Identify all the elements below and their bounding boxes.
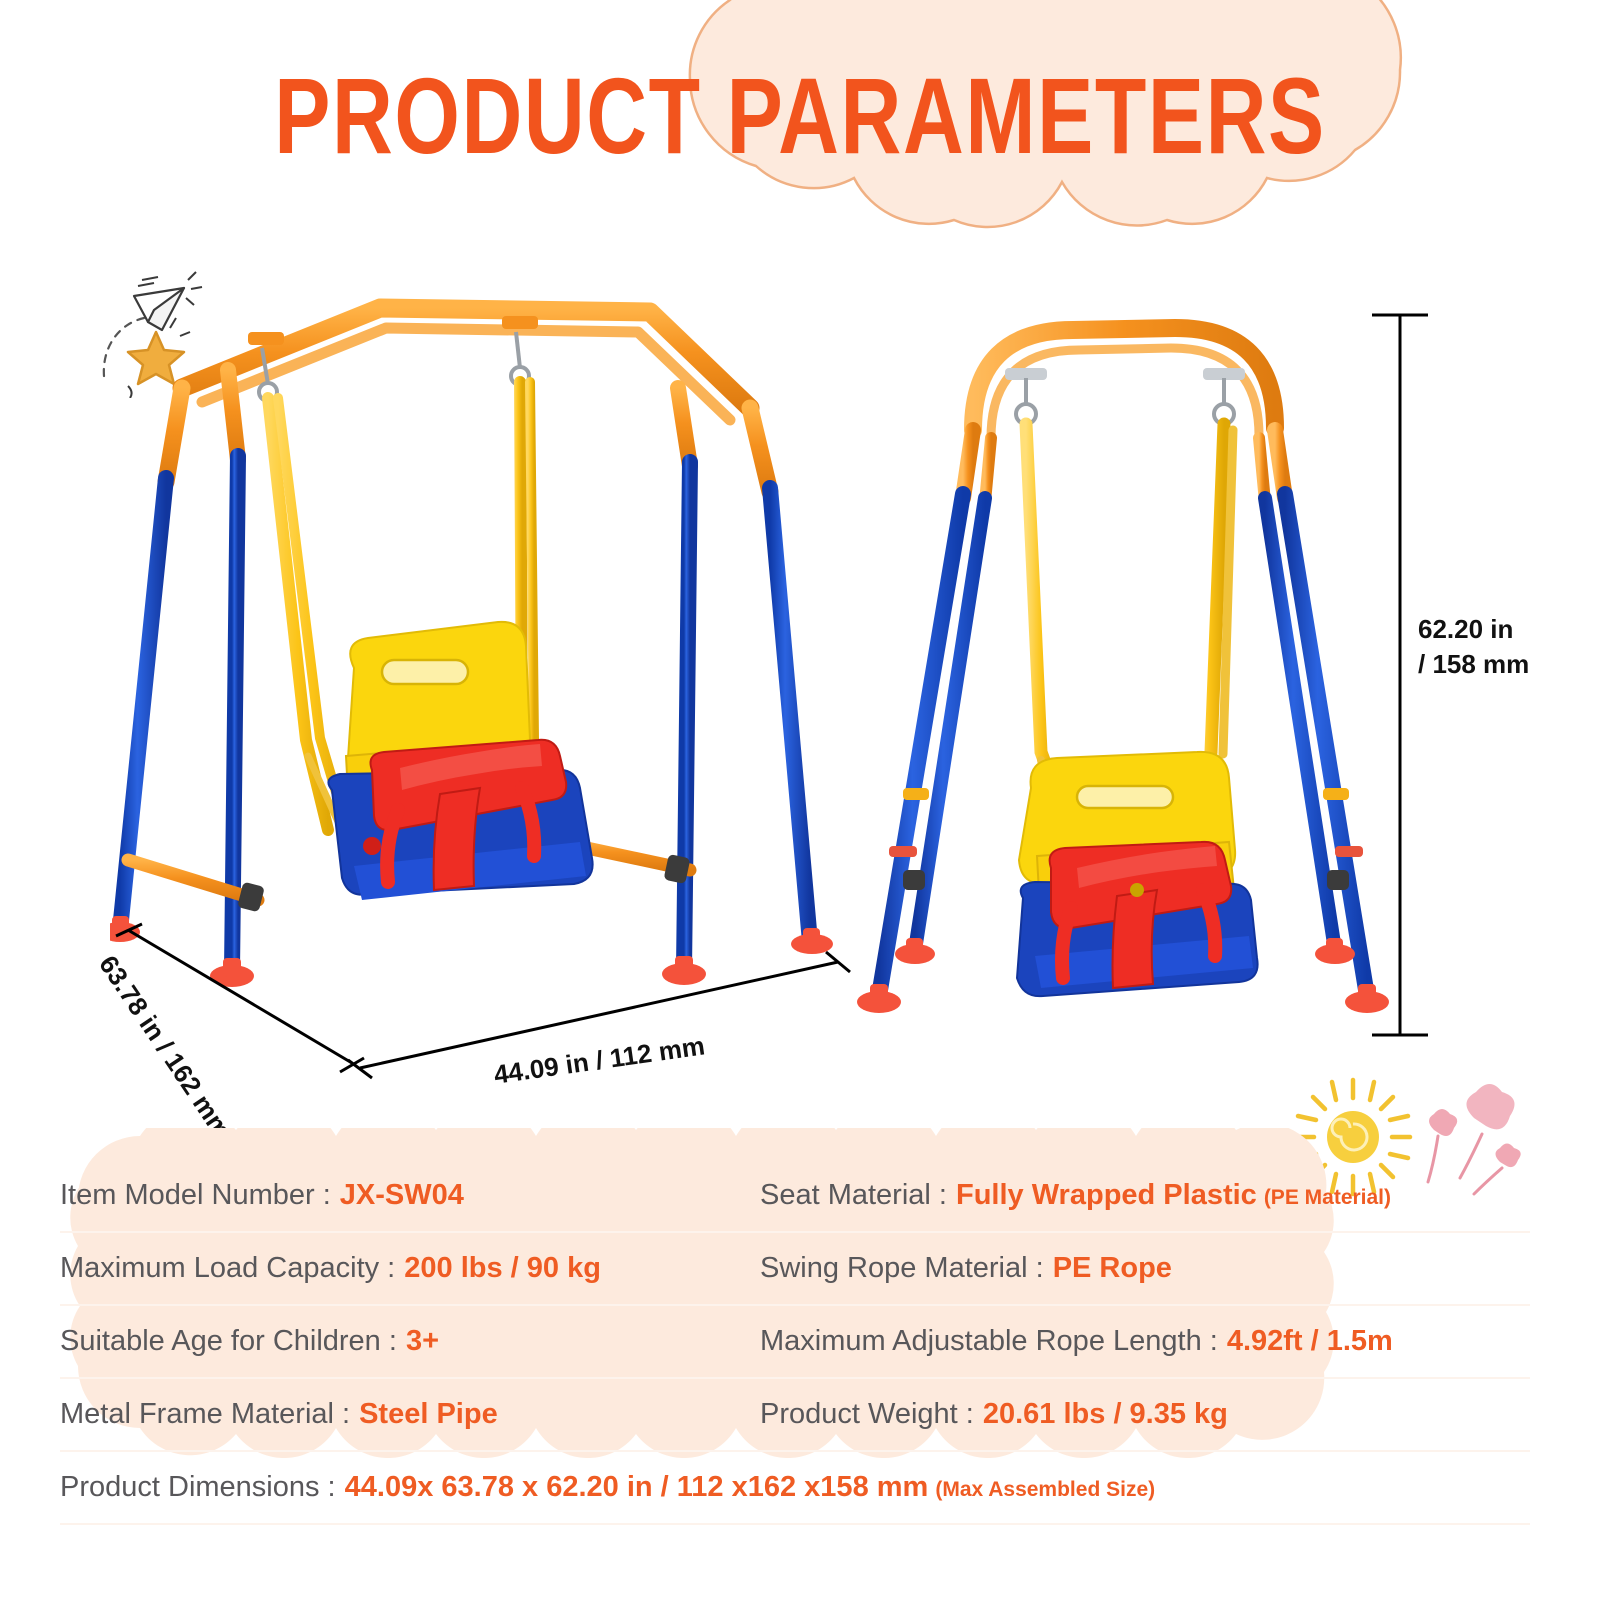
spec-value: 4.92ft / 1.5m <box>1227 1325 1393 1358</box>
spec-label: Swing Rope Material : <box>760 1252 1044 1285</box>
height-dimension-label: 62.20 in / 158 mm <box>1418 612 1529 682</box>
spec-value: 3+ <box>406 1325 439 1358</box>
infographic-canvas: PRODUCT PARAMETERS <box>0 0 1600 1600</box>
spec-value: JX-SW04 <box>340 1179 464 1212</box>
table-row: Item Model Number : JX-SW04 Seat Materia… <box>60 1160 1530 1233</box>
spec-value: Steel Pipe <box>359 1398 498 1431</box>
spec-cell-product-dimensions: Product Dimensions : 44.09x 63.78 x 62.2… <box>60 1471 1155 1504</box>
table-row: Metal Frame Material : Steel Pipe Produc… <box>60 1379 1530 1452</box>
spec-label: Item Model Number : <box>60 1179 331 1212</box>
spec-cell-seat-material: Seat Material : Fully Wrapped Plastic (P… <box>760 1179 1520 1212</box>
spec-table: Item Model Number : JX-SW04 Seat Materia… <box>60 1160 1530 1550</box>
spec-label: Metal Frame Material : <box>60 1398 350 1431</box>
table-row: Maximum Load Capacity : 200 lbs / 90 kg … <box>60 1233 1530 1306</box>
spec-label: Product Dimensions : <box>60 1471 336 1504</box>
table-row: Product Dimensions : 44.09x 63.78 x 62.2… <box>60 1452 1530 1525</box>
spec-cell-max-adjustable-rope-length: Maximum Adjustable Rope Length : 4.92ft … <box>760 1325 1520 1358</box>
spec-note: (Max Assembled Size) <box>935 1478 1155 1502</box>
spec-cell-metal-frame-material: Metal Frame Material : Steel Pipe <box>60 1398 760 1431</box>
spec-label: Product Weight : <box>760 1398 974 1431</box>
spec-cell-suitable-age: Suitable Age for Children : 3+ <box>60 1325 760 1358</box>
spec-label: Suitable Age for Children : <box>60 1325 397 1358</box>
spec-cell-maximum-load-capacity: Maximum Load Capacity : 200 lbs / 90 kg <box>60 1252 760 1285</box>
spec-cell-product-weight: Product Weight : 20.61 lbs / 9.35 kg <box>760 1398 1520 1431</box>
height-dimension-line1: 62.20 in <box>1418 612 1529 647</box>
spec-value: 200 lbs / 90 kg <box>404 1252 601 1285</box>
spec-value: 44.09x 63.78 x 62.20 in / 112 x162 x158 … <box>345 1471 929 1504</box>
spec-cell-item-model-number: Item Model Number : JX-SW04 <box>60 1179 760 1212</box>
spec-note: (PE Material) <box>1264 1186 1391 1210</box>
spec-cell-swing-rope-material: Swing Rope Material : PE Rope <box>760 1252 1520 1285</box>
spec-label: Maximum Adjustable Rope Length : <box>760 1325 1218 1358</box>
spec-label: Seat Material : <box>760 1179 947 1212</box>
table-row: Suitable Age for Children : 3+ Maximum A… <box>60 1306 1530 1379</box>
spec-label: Maximum Load Capacity : <box>60 1252 395 1285</box>
spec-value: 20.61 lbs / 9.35 kg <box>983 1398 1228 1431</box>
spec-value: Fully Wrapped Plastic <box>956 1179 1257 1212</box>
height-dimension-line2: / 158 mm <box>1418 647 1529 682</box>
spec-value: PE Rope <box>1053 1252 1172 1285</box>
